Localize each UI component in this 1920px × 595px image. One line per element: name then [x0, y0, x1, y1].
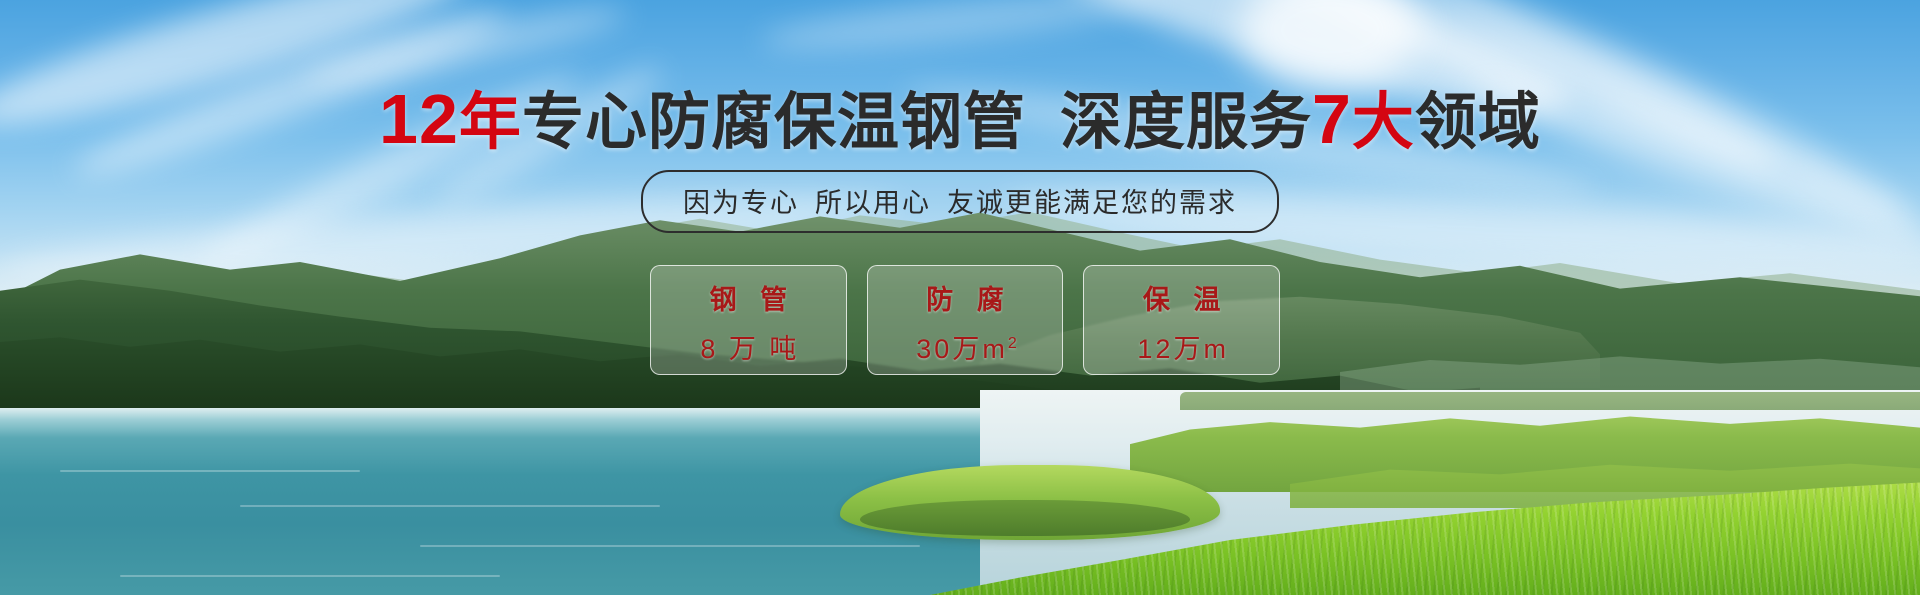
- stat-card-group: 钢 管 8 万 吨 防 腐 30万m2 保 温 12万m: [650, 265, 1280, 375]
- subtitle-segment-two: 所以用心: [815, 188, 931, 218]
- headline-years-unit: 年: [459, 88, 522, 157]
- stat-card-title: 保 温: [1135, 278, 1229, 317]
- headline-years-number: 12: [379, 80, 459, 158]
- stat-card-title: 防 腐: [918, 278, 1012, 317]
- stat-card-value: 8 万 吨: [697, 327, 799, 366]
- subtitle-segment-one: 因为专心: [683, 188, 799, 218]
- headline-phrase-one: 专心防腐保温钢管: [522, 88, 1026, 157]
- stat-card-value: 30万m2: [913, 327, 1016, 366]
- headline-phrase-three: 领域: [1415, 88, 1541, 157]
- headline-fields-number: 7: [1312, 80, 1352, 158]
- stat-card-insulation: 保 温 12万m: [1083, 265, 1280, 375]
- banner-subtitle-pill: 因为专心所以用心友诚更能满足您的需求: [641, 170, 1279, 233]
- headline-fields-unit: 大: [1352, 88, 1415, 157]
- stat-card-value-text: 12万m: [1137, 334, 1229, 364]
- banner-content: 12年专心防腐保温钢管深度服务7大领域 因为专心所以用心友诚更能满足您的需求 钢…: [0, 0, 1920, 595]
- stat-card-value: 12万m: [1134, 327, 1229, 366]
- stat-card-steel-pipe: 钢 管 8 万 吨: [650, 265, 847, 375]
- hero-banner: 12年专心防腐保温钢管深度服务7大领域 因为专心所以用心友诚更能满足您的需求 钢…: [0, 0, 1920, 595]
- headline-phrase-two: 深度服务: [1060, 88, 1312, 157]
- banner-headline: 12年专心防腐保温钢管深度服务7大领域: [0, 84, 1920, 154]
- subtitle-segment-three: 友诚更能满足您的需求: [947, 188, 1237, 218]
- stat-card-title: 钢 管: [702, 278, 796, 317]
- stat-card-anticorrosion: 防 腐 30万m2: [867, 265, 1064, 375]
- stat-card-value-text: 8 万 吨: [700, 334, 799, 364]
- stat-card-value-text: 30万m: [916, 334, 1008, 364]
- banner-subtitle-wrap: 因为专心所以用心友诚更能满足您的需求: [0, 170, 1920, 233]
- stat-card-value-superscript: 2: [1008, 335, 1017, 352]
